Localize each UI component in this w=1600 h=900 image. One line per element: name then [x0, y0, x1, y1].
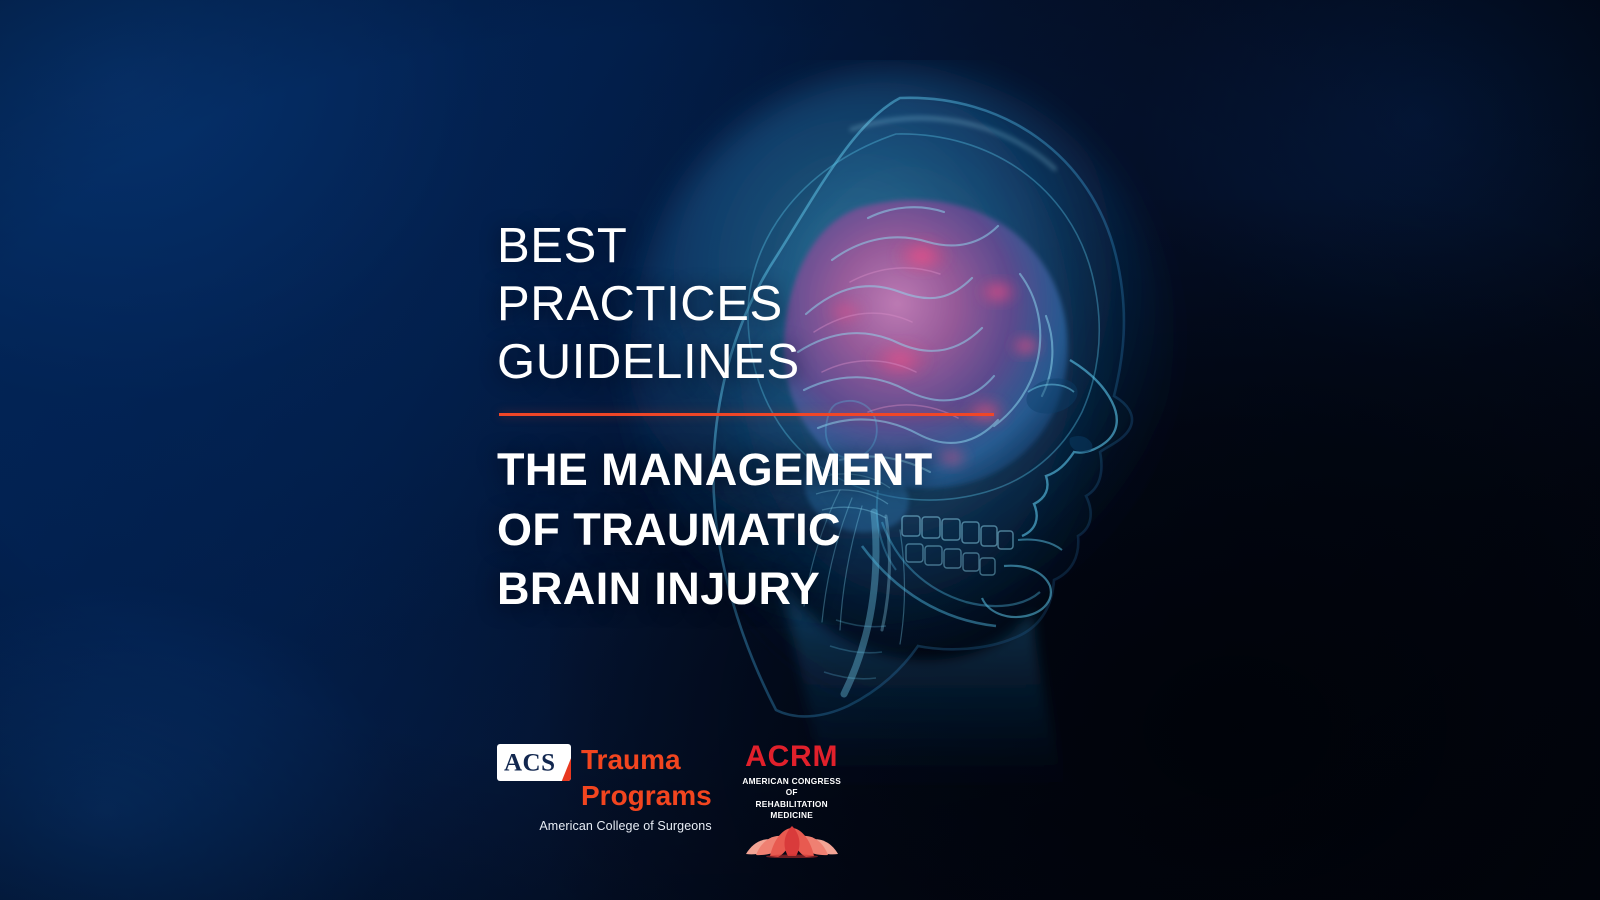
acrm-logo: ACRM AMERICAN CONGRESS OF REHABILITATION… [738, 738, 846, 858]
lotus-flower-icon [744, 824, 840, 858]
acs-slash-icon [558, 744, 571, 781]
accent-divider [499, 413, 994, 416]
acs-word-line-2: Programs [581, 778, 712, 814]
acrm-subtitle-line-2: REHABILITATION MEDICINE [738, 799, 846, 822]
kicker-title: BEST PRACTICES GUIDELINES [497, 218, 1057, 391]
acs-trauma-programs-logo: ACS Trauma Programs American College of … [497, 738, 712, 833]
kicker-line-3: GUIDELINES [497, 334, 1057, 392]
headline-line-1: THE MANAGEMENT [497, 440, 1057, 499]
acrm-subtitle: AMERICAN CONGRESS OF REHABILITATION MEDI… [738, 776, 846, 821]
acs-wordmark: Trauma Programs [581, 742, 712, 815]
headline-line-2: OF TRAUMATIC [497, 500, 1057, 559]
logo-row: ACS Trauma Programs American College of … [497, 738, 846, 858]
acs-mark-icon: ACS [497, 744, 571, 781]
kicker-line-2: PRACTICES [497, 276, 1057, 334]
acrm-wordmark: ACRM [738, 742, 846, 772]
acs-word-line-1: Trauma [581, 742, 712, 778]
page-title: THE MANAGEMENT OF TRAUMATIC BRAIN INJURY [497, 440, 1057, 618]
headline-line-3: BRAIN INJURY [497, 559, 1057, 618]
kicker-line-1: BEST [497, 218, 1057, 276]
acs-subtitle: American College of Surgeons [497, 819, 712, 833]
publication-cover: BEST PRACTICES GUIDELINES THE MANAGEMENT… [0, 0, 1600, 900]
cover-copy: BEST PRACTICES GUIDELINES THE MANAGEMENT… [497, 218, 1057, 619]
acrm-subtitle-line-1: AMERICAN CONGRESS OF [738, 776, 846, 799]
acs-lockup: ACS Trauma Programs [497, 738, 712, 815]
acs-mark-letters: ACS [504, 750, 556, 775]
